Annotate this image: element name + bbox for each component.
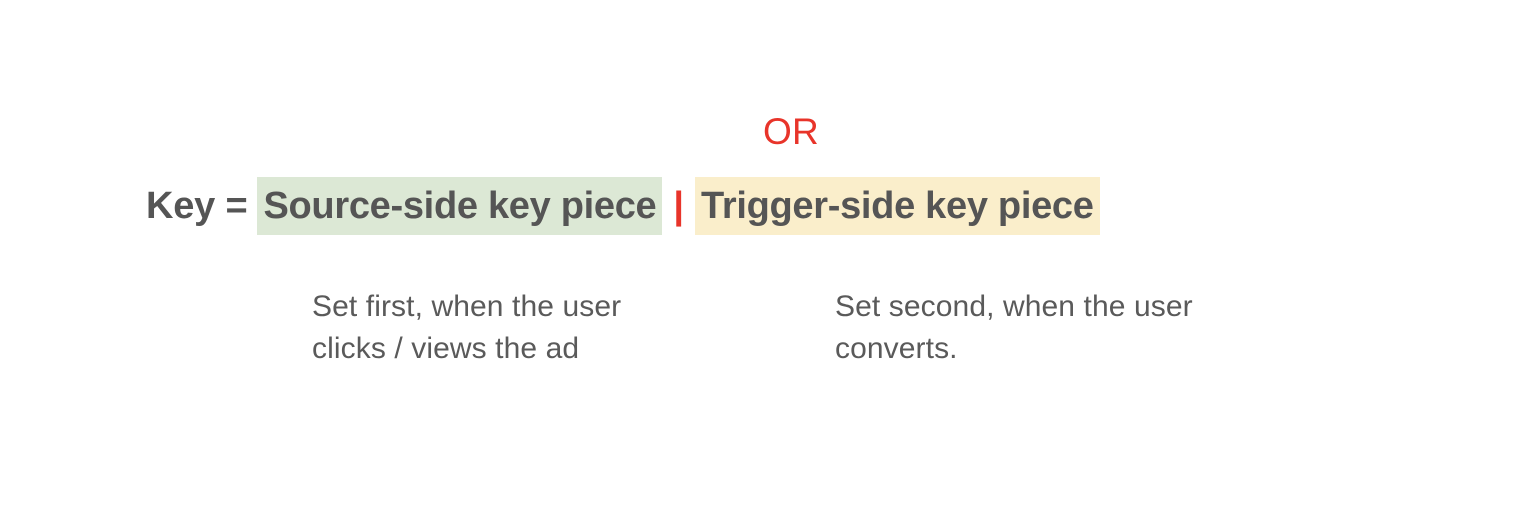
source-side-key-piece-chip: Source-side key piece bbox=[257, 177, 662, 235]
source-side-caption-line-2: clicks / views the ad bbox=[312, 328, 712, 370]
or-connector-label: OR bbox=[34, 108, 1514, 156]
trigger-side-caption-line-2: converts. bbox=[835, 328, 1295, 370]
trigger-side-caption-line-1: Set second, when the user bbox=[835, 286, 1295, 328]
source-side-caption-line-1: Set first, when the user bbox=[312, 286, 712, 328]
trigger-side-key-piece-chip: Trigger-side key piece bbox=[695, 177, 1100, 235]
trigger-side-caption: Set second, when the user converts. bbox=[835, 286, 1295, 370]
key-prefix-label: Key = bbox=[146, 177, 257, 235]
key-separator-pipe: | bbox=[662, 177, 695, 235]
key-formula-row: Key = Source-side key piece | Trigger-si… bbox=[146, 177, 1100, 235]
slide-canvas: OR Key = Source-side key piece | Trigger… bbox=[0, 0, 1514, 522]
source-side-caption: Set first, when the user clicks / views … bbox=[312, 286, 712, 370]
